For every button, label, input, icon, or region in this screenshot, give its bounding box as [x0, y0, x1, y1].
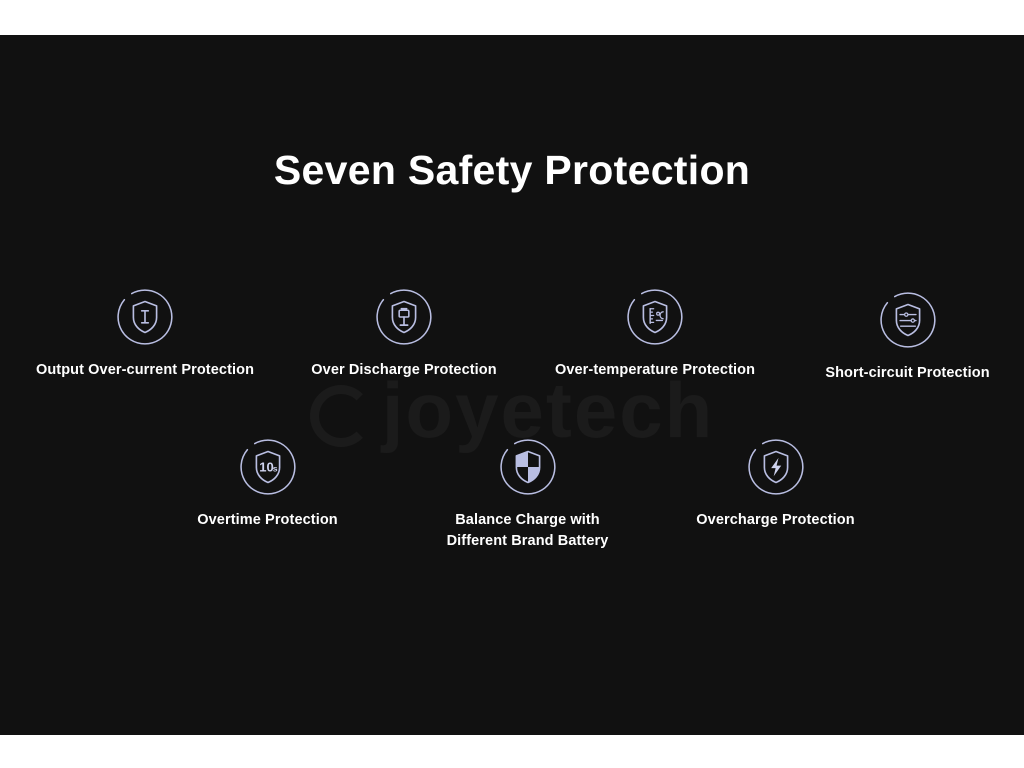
feature-label: Balance Charge with Different Brand Batt… [425, 510, 630, 552]
svg-text:10: 10 [259, 459, 274, 474]
feature-overcharge: Overcharge Protection [678, 438, 873, 531]
shield-balance-icon [499, 438, 557, 496]
feature-label: Short-circuit Protection [805, 363, 1010, 384]
feature-label: Over Discharge Protection [290, 360, 518, 381]
svg-text:s: s [272, 463, 277, 473]
slide-canvas: joyetech Seven Safety Protection Output … [0, 35, 1024, 735]
page-title: Seven Safety Protection [0, 147, 1024, 194]
feature-output-over-current: Output Over-current Protection [10, 288, 280, 381]
feature-label: Overtime Protection [180, 510, 355, 531]
feature-over-discharge: Over Discharge Protection [290, 288, 518, 381]
shield-current-icon [116, 288, 174, 346]
shield-circuit-icon [879, 291, 937, 349]
feature-balance-charge: Balance Charge with Different Brand Batt… [425, 438, 630, 552]
shield-bolt-icon [747, 438, 805, 496]
shield-thermometer-icon [626, 288, 684, 346]
feature-overtime: 10 s Overtime Protection [180, 438, 355, 531]
feature-label: Overcharge Protection [678, 510, 873, 531]
feature-over-temperature: Over-temperature Protection [535, 288, 775, 381]
feature-label: Over-temperature Protection [535, 360, 775, 381]
feature-short-circuit: Short-circuit Protection [805, 291, 1010, 384]
feature-label: Output Over-current Protection [10, 360, 280, 381]
infographic-slide: joyetech Seven Safety Protection Output … [0, 0, 1024, 768]
shield-battery-icon [375, 288, 433, 346]
shield-10s-icon: 10 s [239, 438, 297, 496]
